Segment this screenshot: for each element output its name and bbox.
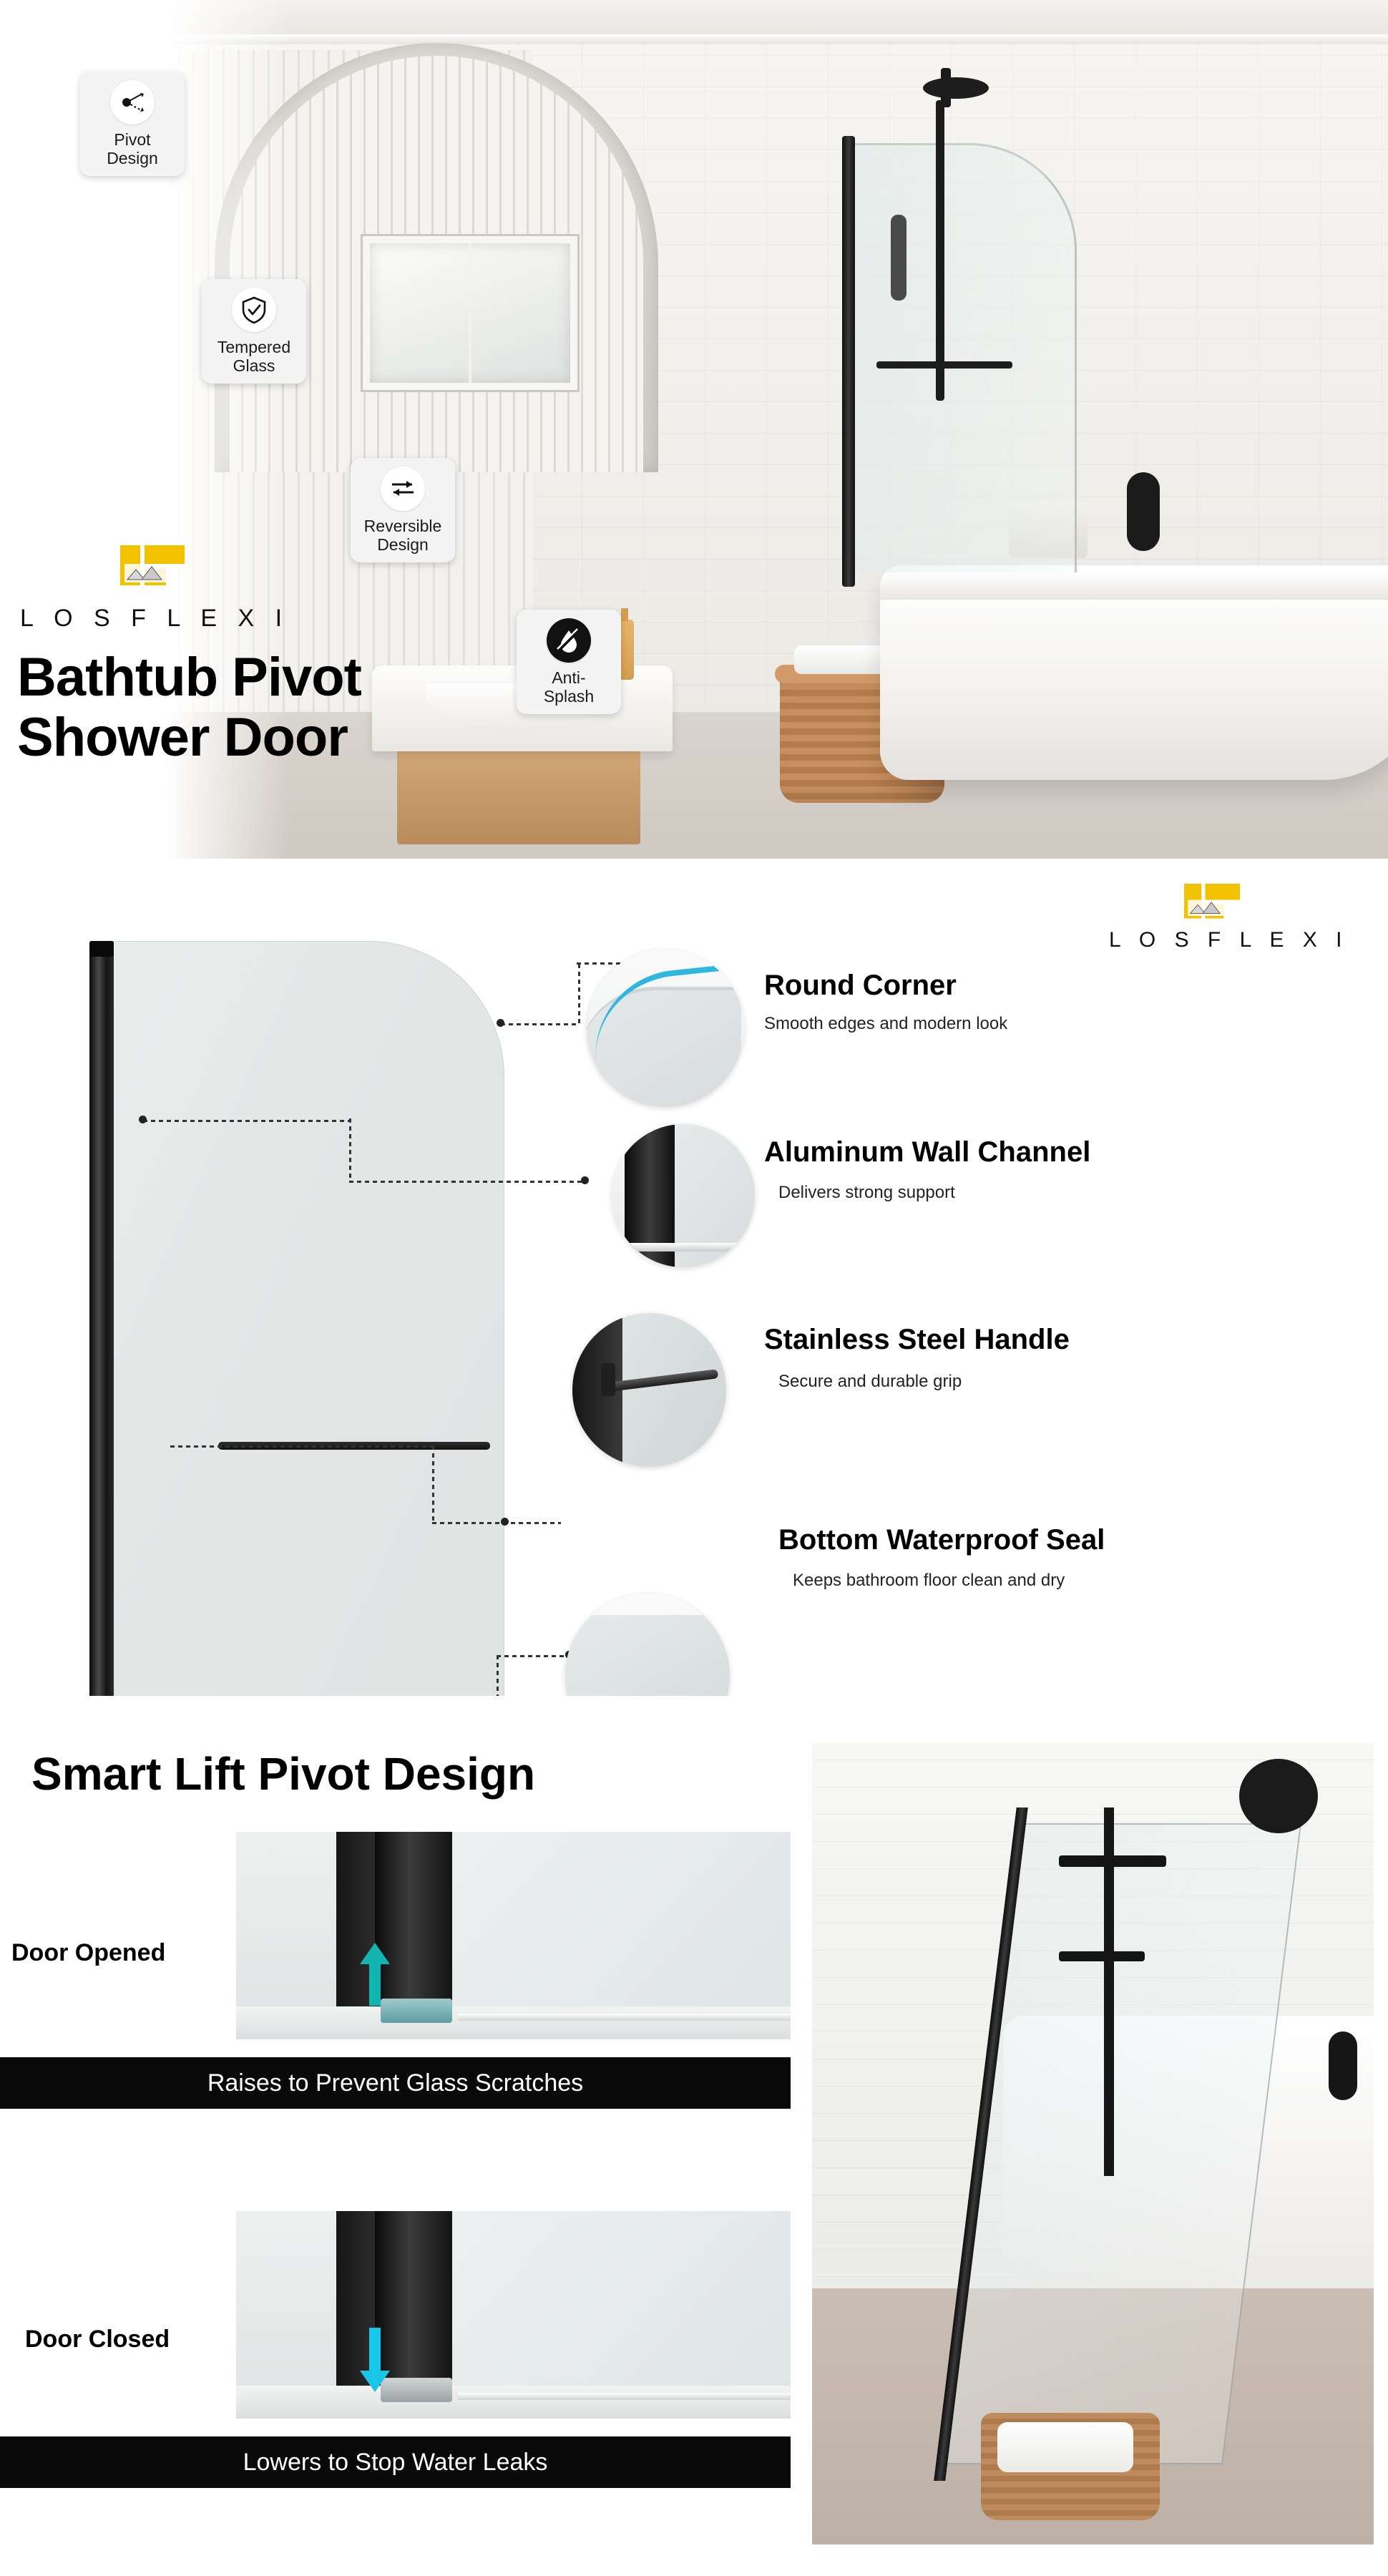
feature-subtitle-stainless-steel-handle: Secure and durable grip [778, 1372, 962, 1392]
hand-shower [891, 215, 906, 301]
shield-check-icon [232, 288, 276, 332]
badge-anti-splash: Anti- Splash [517, 610, 621, 714]
anti-splash-icon [547, 618, 591, 663]
caption-bar-door-opened: Raises to Prevent Glass Scratches [0, 2057, 791, 2109]
arrow-up-icon [358, 1941, 391, 2010]
badge-label-line2: Glass [205, 356, 303, 375]
leader-line-handle-b [432, 1522, 561, 1524]
photo-shower-head [1239, 1759, 1318, 1833]
leader-line-channel-b [349, 1181, 585, 1183]
leader-line-handle-v [432, 1445, 434, 1524]
badge-label-line2: Design [353, 535, 452, 554]
leader-line-handle-a [170, 1445, 435, 1448]
feature-subtitle-bottom-waterproof-seal: Keeps bathroom floor clean and dry [793, 1571, 1065, 1591]
arrow-down-icon [358, 2325, 391, 2394]
caption-door-closed: Lowers to Stop Water Leaks [243, 2449, 548, 2477]
installed-shower-door-photo [812, 1743, 1374, 2545]
hero-section: Pivot Design Tempered Glass Reversible D… [0, 0, 1388, 862]
photo-floor [236, 2386, 791, 2419]
feature-title-stainless-steel-handle: Stainless Steel Handle [764, 1324, 1070, 1356]
smart-lift-section: Smart Lift Pivot Design Door Opened Rais… [0, 1696, 1388, 2576]
badge-reversible-design: Reversible Design [351, 458, 455, 562]
pivot-arrow-icon [110, 80, 155, 125]
aluminum-wall-channel-thumbnail [612, 1124, 755, 1267]
section-title-smart-lift: Smart Lift Pivot Design [31, 1747, 535, 1800]
shower-door-post [842, 136, 855, 587]
badge-pivot-design: Pivot Design [80, 72, 185, 176]
row-label-door-opened: Door Opened [11, 1939, 165, 1967]
round-corner-thumbnail [587, 950, 744, 1107]
feature-title-bottom-waterproof-seal: Bottom Waterproof Seal [778, 1524, 1105, 1556]
badge-tempered-glass: Tempered Glass [202, 279, 306, 384]
feature-title-round-corner: Round Corner [764, 970, 957, 1002]
photo-bracket-upper [1059, 1855, 1166, 1867]
photo-threshold [458, 2014, 791, 2021]
brand-wordmark: L O S F L E X I [1109, 928, 1349, 952]
leader-line-channel-v [349, 1118, 351, 1183]
rain-shower-head [923, 77, 989, 99]
leader-line-round-corner [501, 1023, 580, 1025]
photo-folded-towel [997, 2422, 1133, 2472]
los-flexi-logo [120, 545, 185, 588]
leader-dot [139, 1116, 147, 1123]
badge-label-line1: Anti- [519, 668, 618, 687]
leader-dot [497, 1019, 504, 1027]
door-glass-panel [105, 941, 504, 1791]
photo-pivot-mechanism [381, 2378, 453, 2402]
leader-dot [581, 1176, 589, 1184]
los-flexi-logo [1184, 884, 1240, 921]
grab-bar [876, 361, 1012, 369]
reversible-arrows-icon [381, 467, 425, 511]
door-wall-channel [89, 941, 114, 1792]
feature-subtitle-aluminum-wall-channel: Delivers strong support [778, 1183, 955, 1203]
door-channel-top-cap [89, 941, 114, 957]
door-opened-photo [236, 1832, 791, 2039]
shower-riser-rail [936, 100, 944, 401]
badge-label-line1: Reversible [353, 517, 452, 535]
bathroom-window [363, 236, 577, 390]
photo-mixer-valve [1329, 2031, 1357, 2100]
leader-line-round-corner-vertical [578, 964, 580, 1025]
page-title: Bathtub Pivot Shower Door [17, 648, 361, 768]
photo-pivot-mechanism [381, 1999, 453, 2023]
stainless-steel-handle-thumbnail [572, 1313, 726, 1467]
feature-subtitle-round-corner: Smooth edges and modern look [764, 1014, 1007, 1034]
caption-door-opened: Raises to Prevent Glass Scratches [207, 2069, 583, 2097]
page-title-line2: Shower Door [17, 708, 361, 768]
shower-door-diagram [89, 941, 504, 1792]
leader-line-channel-a [143, 1120, 351, 1122]
bathtub-rim [880, 572, 1388, 600]
shower-glass-panel [848, 143, 1077, 572]
caption-bar-door-closed: Lowers to Stop Water Leaks [0, 2436, 791, 2488]
row-label-door-closed: Door Closed [25, 2326, 170, 2353]
door-closed-photo [236, 2211, 791, 2419]
photo-floor [236, 2006, 791, 2039]
leader-dot [501, 1518, 509, 1526]
features-section: L O S F L E X I [0, 862, 1388, 1685]
page-title-line1: Bathtub Pivot [17, 648, 361, 708]
brand-wordmark: L O S F L E X I [20, 605, 289, 633]
photo-bracket-lower [1059, 1951, 1145, 1961]
feature-title-aluminum-wall-channel: Aluminum Wall Channel [764, 1136, 1090, 1169]
photo-threshold [458, 2393, 791, 2400]
badge-label-line2: Design [83, 149, 182, 167]
vanity-cabinet [397, 744, 640, 844]
badge-label-line1: Pivot [83, 130, 182, 149]
badge-label-line1: Tempered [205, 338, 303, 356]
shower-mixer-valve [1127, 472, 1160, 551]
badge-label-line2: Splash [519, 687, 618, 706]
